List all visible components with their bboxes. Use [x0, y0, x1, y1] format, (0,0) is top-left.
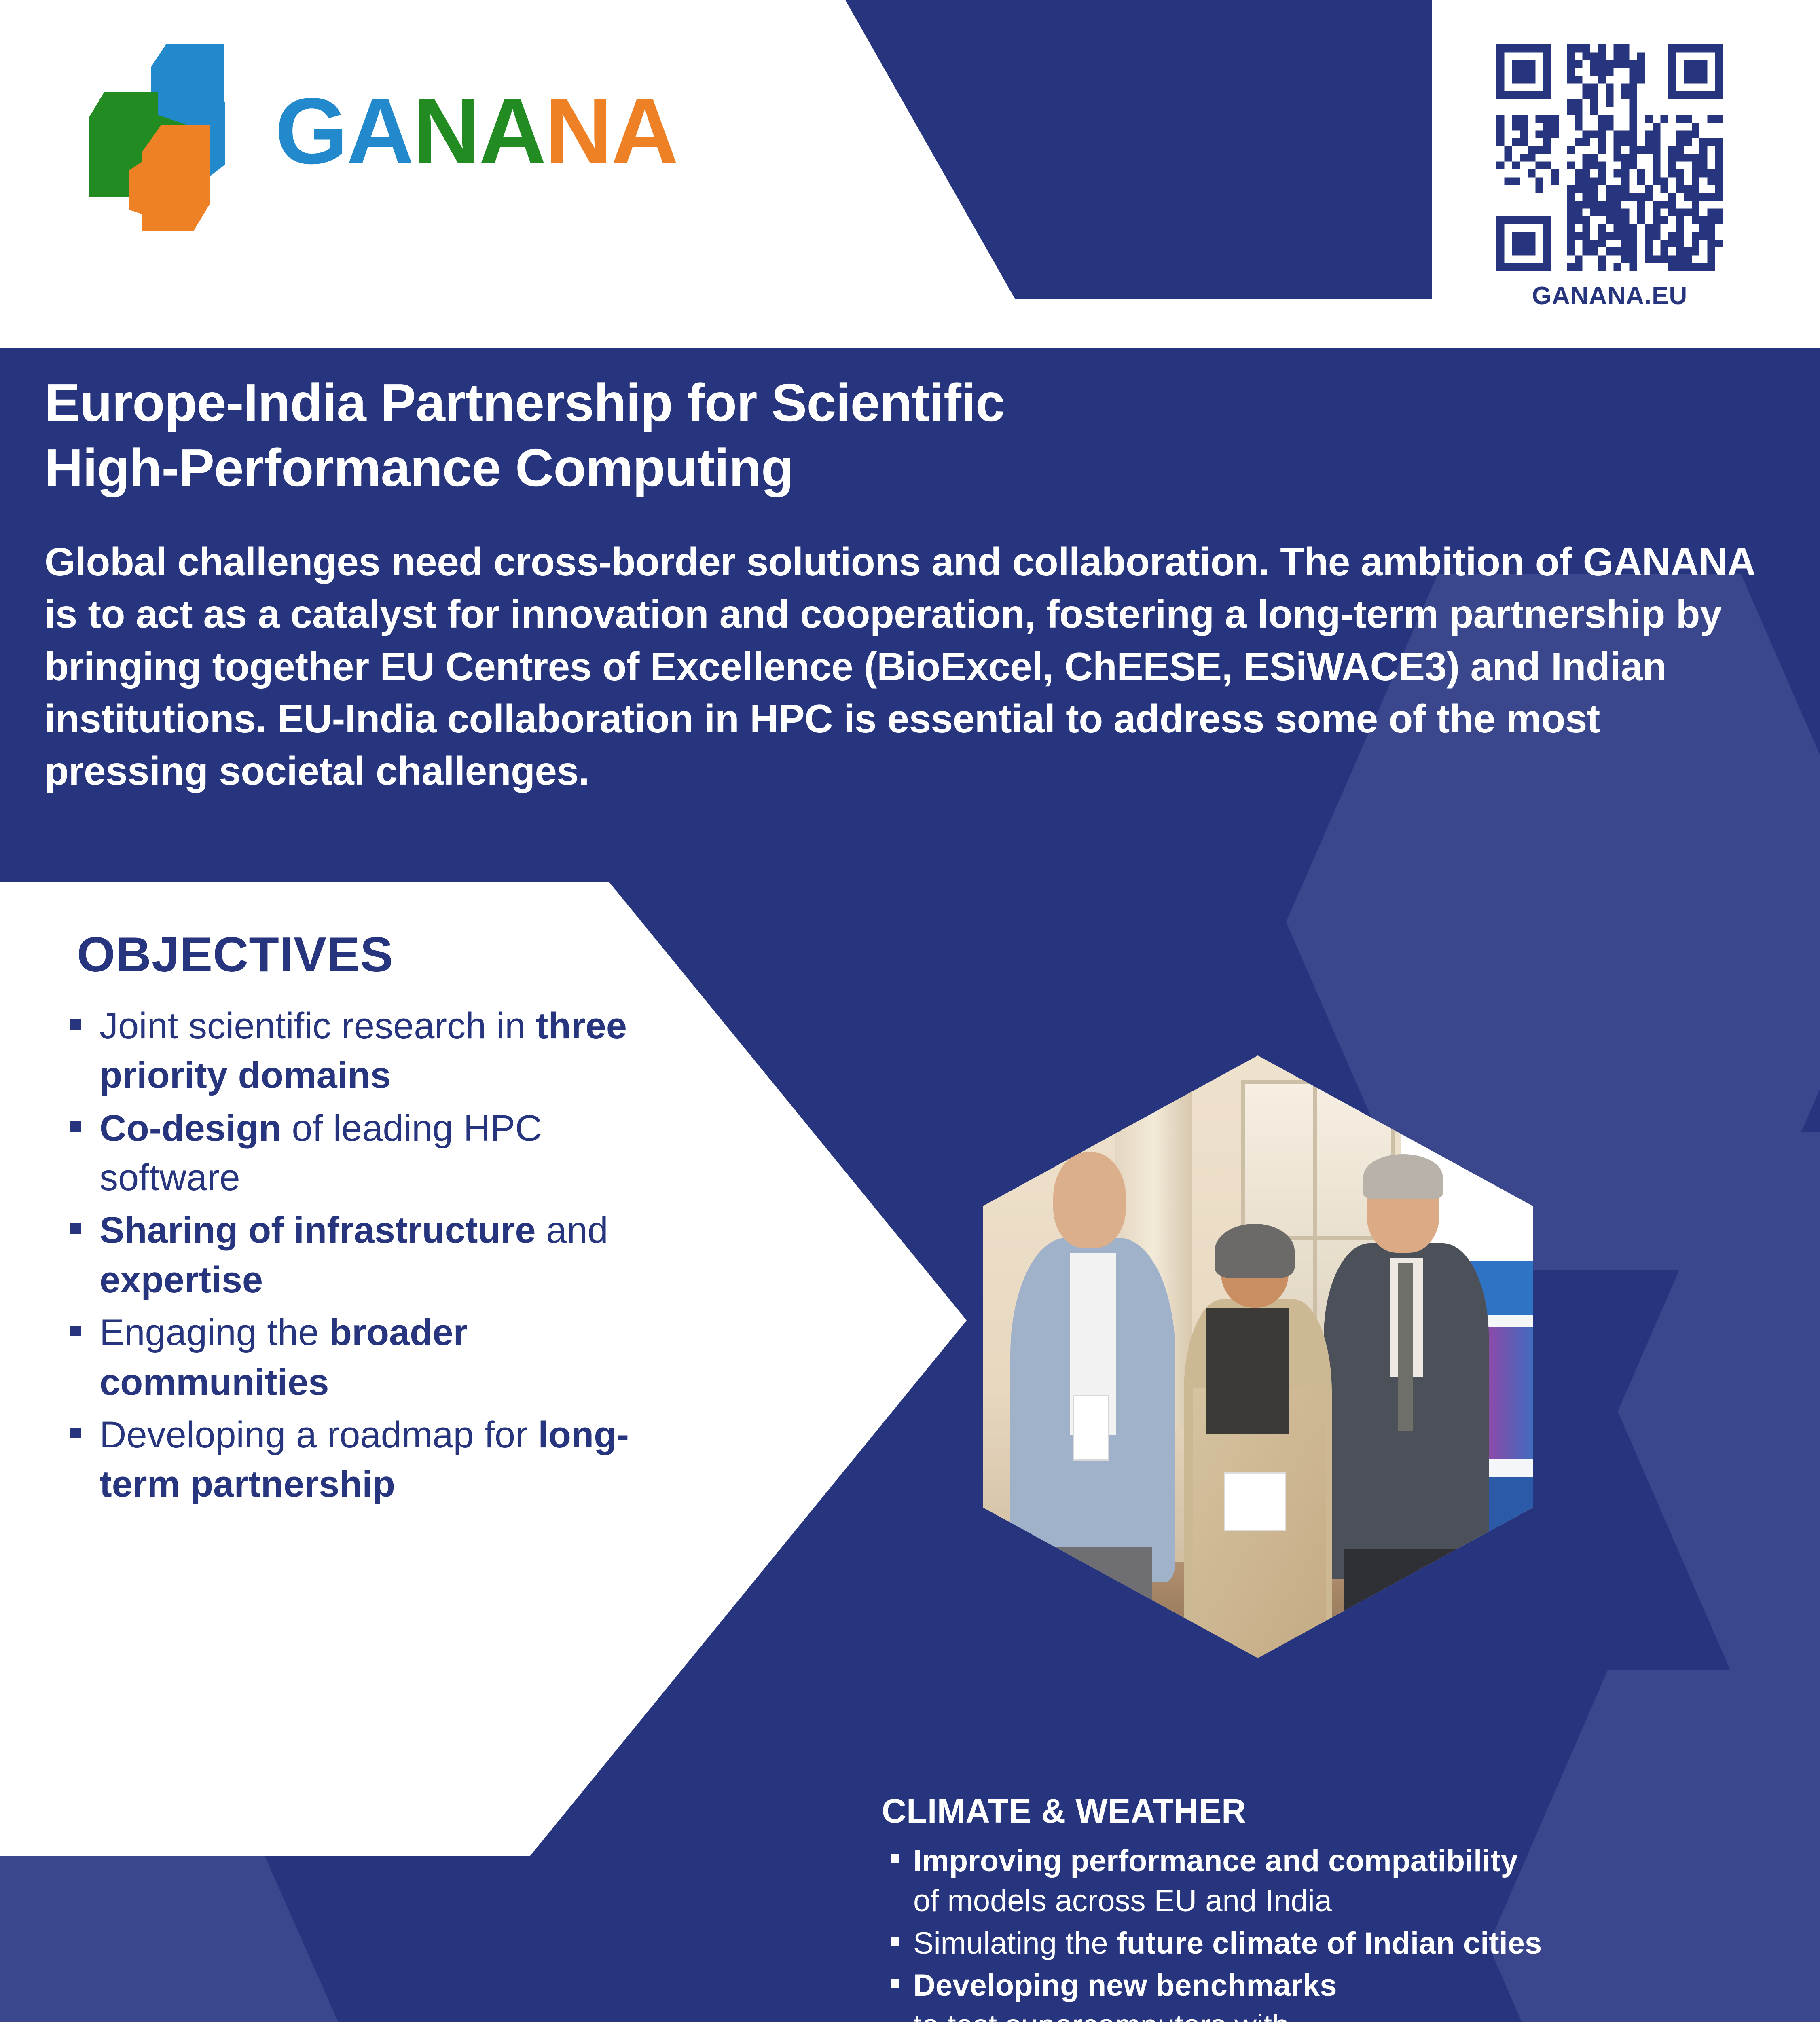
objective-item-2: Co-design of leading HPC software [61, 1104, 635, 1203]
photo-person-center [1181, 1236, 1335, 1658]
title-line-1: Europe-India Partnership for Scientific [44, 370, 1379, 435]
domain-climate-weather: CLIMATE & WEATHER Improving performance … [882, 1791, 1800, 2022]
wordmark-ga: GA [275, 79, 413, 184]
title-line-2: High-Performance Computing [44, 435, 1379, 500]
climate-item-3: Developing new benchmarksto test superco… [882, 1966, 1800, 2022]
objective-item-1: Joint scientific research in three prior… [61, 1001, 635, 1100]
three-priority-domains-graphic: 01 THREEPRIORITYDOMAINS [251, 2006, 866, 2022]
person3-tie [1398, 1263, 1413, 1431]
person1-head [1053, 1152, 1126, 1248]
qr-block[interactable]: GANANA.EU [1472, 44, 1747, 310]
page-title: Europe-India Partnership for Scientific … [44, 370, 1379, 500]
objective-item-4: Engaging the broader communities [61, 1308, 635, 1407]
logo-hexagon-mark [81, 44, 251, 218]
objectives-section: OBJECTIVES Joint scientific research in … [61, 926, 635, 1512]
domain-list-climate: Improving performance and compatibilityo… [882, 1841, 1800, 2022]
ganana-logo[interactable]: GANANA [81, 44, 777, 218]
wordmark-na2: NA [545, 79, 677, 184]
objectives-title: OBJECTIVES [77, 926, 635, 983]
person2-badge [1224, 1472, 1285, 1531]
person2-blouse [1206, 1308, 1289, 1434]
objective-item-3: Sharing of infrastructure and expertise [61, 1206, 635, 1305]
person3-hair [1363, 1154, 1443, 1199]
logo-orange-bottom [129, 158, 193, 222]
climate-item-2: Simulating the future climate of Indian … [882, 1924, 1800, 1964]
person2-hair [1215, 1224, 1295, 1279]
priority-domain-sections: CLIMATE & WEATHER Improving performance … [882, 1791, 1800, 2022]
objective-item-5: Developing a roadmap for long-term partn… [61, 1410, 635, 1509]
domain-title-climate: CLIMATE & WEATHER [882, 1791, 1800, 1831]
person1-badge [1073, 1395, 1109, 1461]
objectives-list: Joint scientific research in three prior… [61, 1001, 635, 1509]
logo-wordmark: GANANA [275, 85, 677, 178]
qr-url-label: GANANA.EU [1472, 281, 1747, 310]
ganana-poster: GANANA [0, 0, 1820, 2022]
wordmark-na1: NA [413, 79, 545, 184]
climate-item-1: Improving performance and compatibilityo… [882, 1841, 1800, 1921]
intro-paragraph: Global challenges need cross-border solu… [44, 536, 1755, 797]
qr-code-icon[interactable] [1496, 44, 1723, 271]
